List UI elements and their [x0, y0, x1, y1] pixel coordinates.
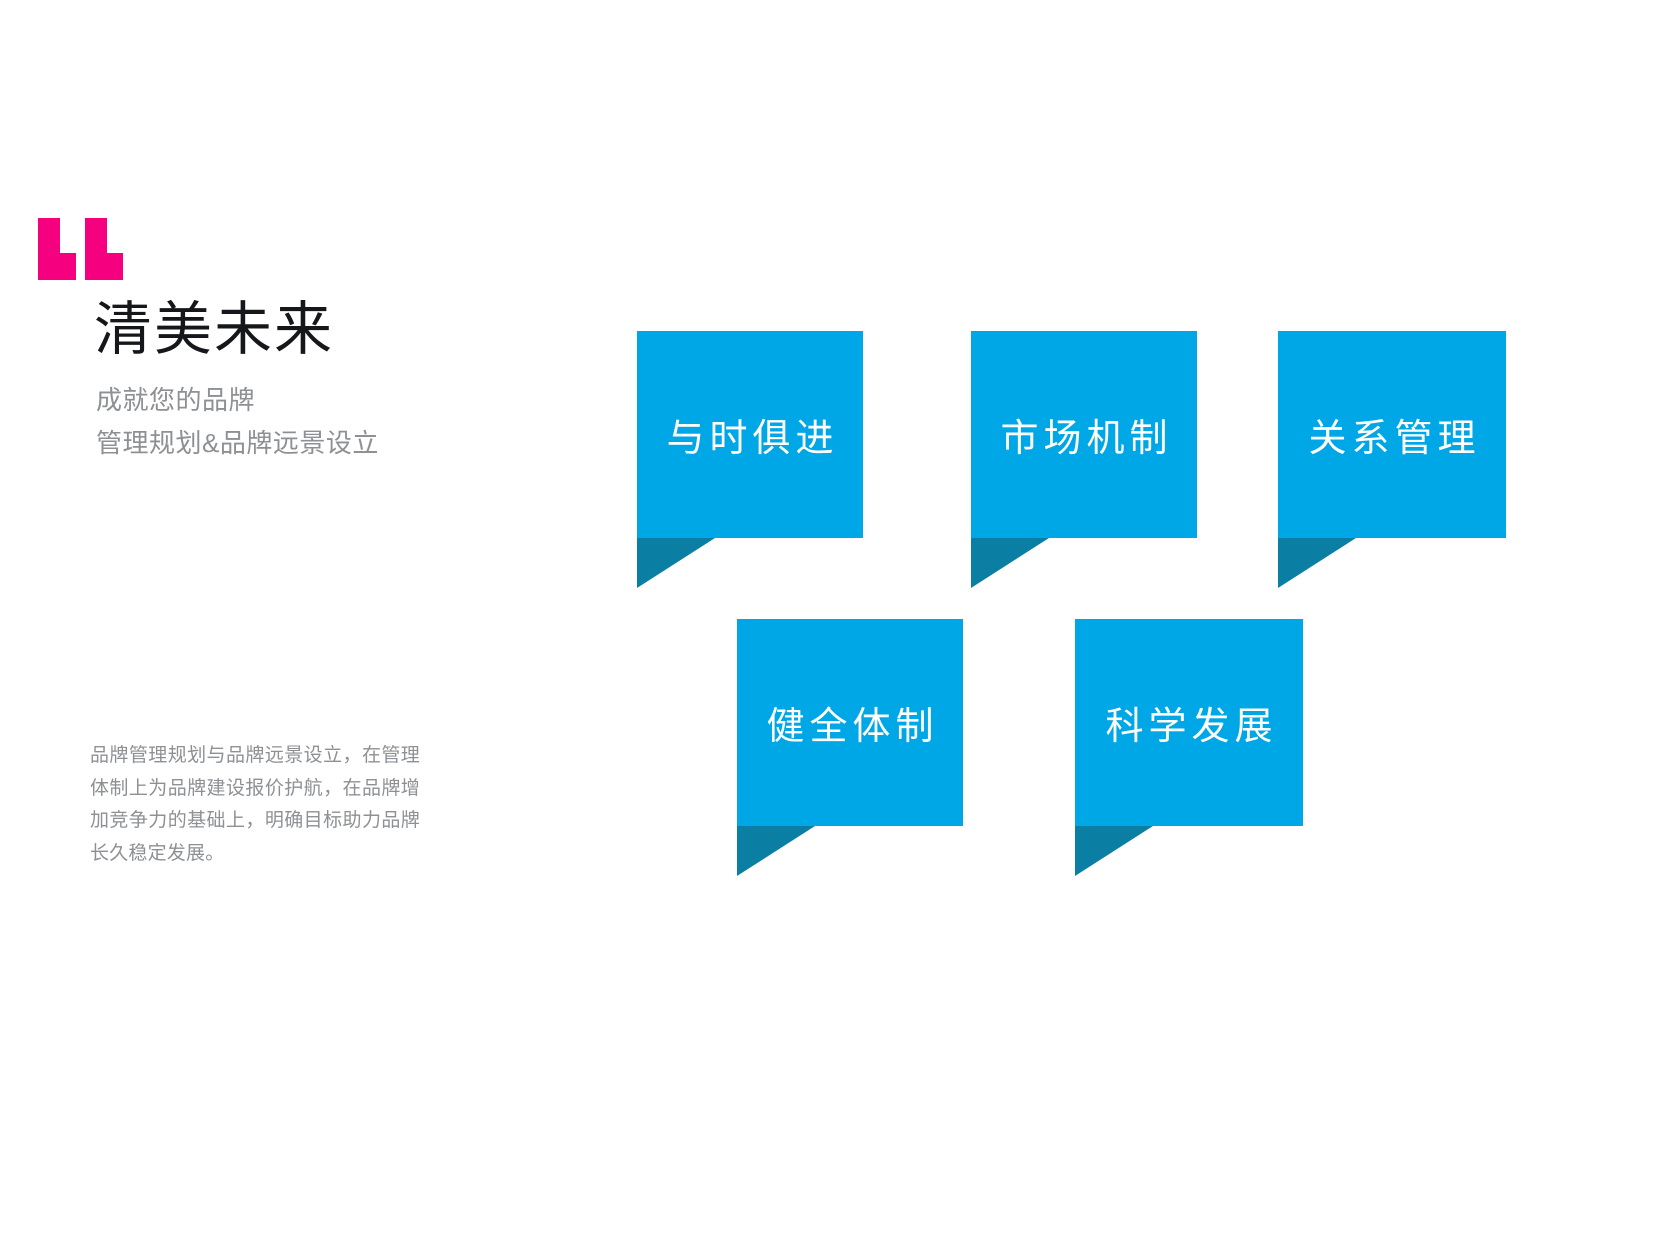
bubble-group: 与时俱进 市场机制 关系管理 健全体制 科学发展	[0, 0, 1667, 1250]
bubble-tail-icon	[1278, 538, 1356, 588]
bubble-label: 关系管理	[1303, 407, 1480, 462]
bubble-body: 健全体制	[737, 619, 963, 826]
bubble-label: 健全体制	[761, 695, 938, 750]
bubble-tail-icon	[1075, 826, 1153, 876]
bubble-label: 与时俱进	[661, 407, 838, 462]
bubble-tail-icon	[971, 538, 1049, 588]
bubble-tail-icon	[737, 826, 815, 876]
bubble-body: 与时俱进	[637, 331, 863, 538]
bubble-label: 市场机制	[995, 407, 1172, 462]
bubble-body: 关系管理	[1278, 331, 1506, 538]
slide-canvas: 清美未来 成就您的品牌 管理规划&品牌远景设立 品牌管理规划与品牌远景设立，在管…	[0, 0, 1667, 1250]
bubble-label: 科学发展	[1100, 695, 1277, 750]
bubble-tail-icon	[637, 538, 715, 588]
bubble-body: 科学发展	[1075, 619, 1303, 826]
bubble-body: 市场机制	[971, 331, 1197, 538]
